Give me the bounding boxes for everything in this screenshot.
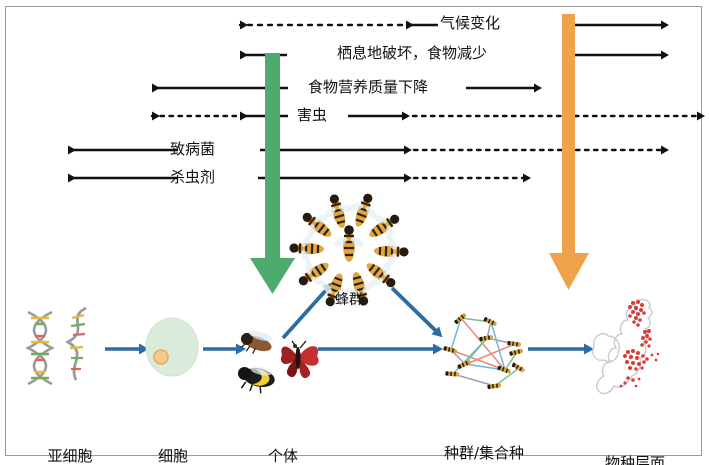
stage-label-population-line1: 种群/集合种 bbox=[444, 445, 554, 462]
stage-label-species-line1: 物种层面 bbox=[585, 455, 685, 465]
diagram-frame bbox=[5, 6, 702, 456]
diagram-canvas: 气候变化 栖息地破坏，食物减少 食物营养质量下降 害虫 致病菌 杀虫剂 蜂群 亚… bbox=[0, 0, 709, 465]
stage-label-individual-line1: 个体 bbox=[248, 448, 318, 465]
stressor-label-climate-change: 气候变化 bbox=[440, 15, 500, 32]
stage-label-cell-line1: 细胞 bbox=[138, 448, 208, 465]
stage-label-subcellular-line1: 亚细胞 bbox=[20, 448, 120, 465]
colony-label: 蜂群 bbox=[335, 292, 363, 308]
stage-label-subcellular: 亚细胞 （DNA,RNA） bbox=[20, 413, 120, 465]
stage-label-species: 物种层面 bbox=[585, 420, 685, 465]
stressor-label-pests: 害虫 bbox=[297, 107, 327, 124]
stage-label-cell: 细胞 bbox=[138, 413, 208, 465]
stressor-label-pesticides: 杀虫剂 bbox=[170, 169, 215, 186]
stressor-label-pathogens: 致病菌 bbox=[170, 141, 215, 158]
stressor-label-food-quality: 食物营养质量下降 bbox=[308, 79, 428, 96]
stressor-label-habitat-loss: 栖息地破坏，食物减少 bbox=[337, 45, 487, 62]
stage-label-individual: 个体 bbox=[248, 413, 318, 465]
stage-label-population: 种群/集合种 群 bbox=[444, 410, 554, 465]
